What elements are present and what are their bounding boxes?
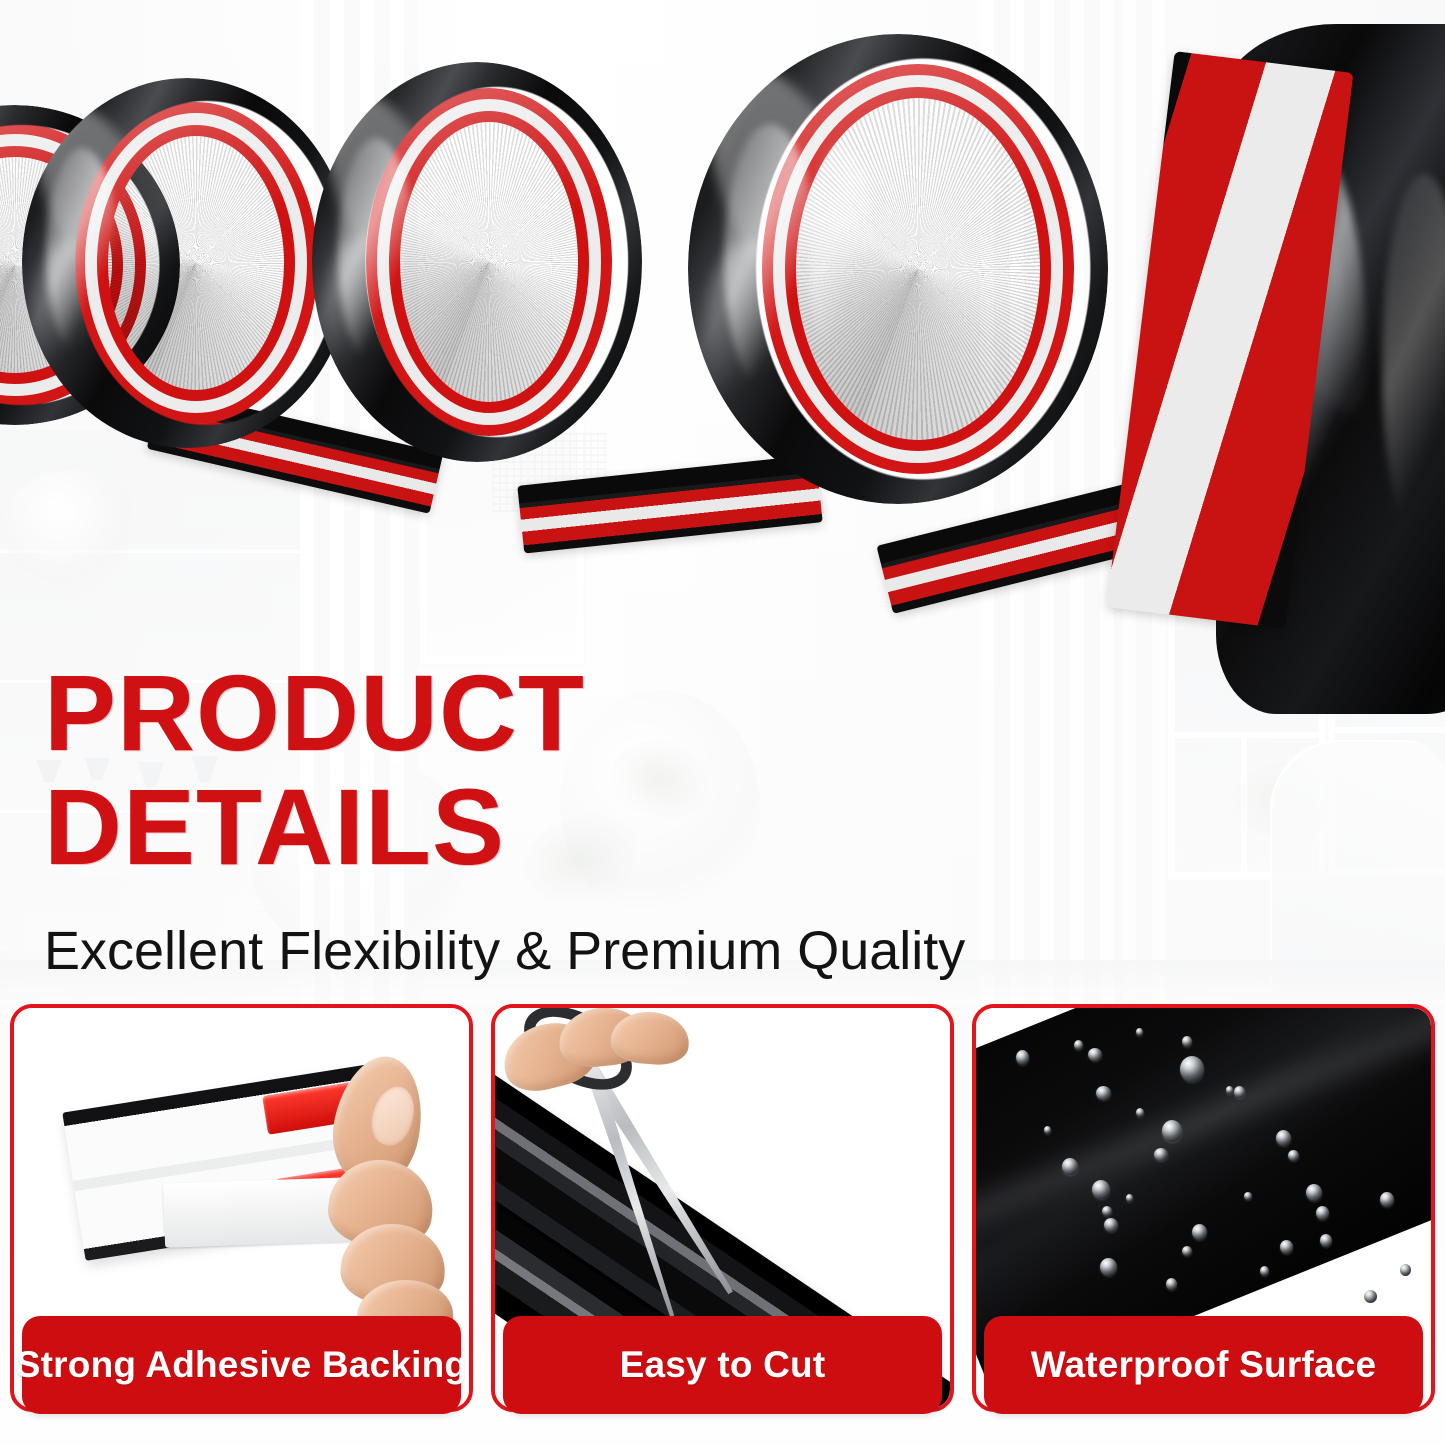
water-droplet (1166, 1278, 1177, 1290)
water-droplet (1136, 1028, 1143, 1036)
tape-black-band (312, 62, 642, 462)
water-droplet (1162, 1120, 1182, 1142)
title-block: PRODUCT DETAILS Excellent Flexibility & … (44, 660, 1144, 982)
water-droplet (1320, 1234, 1332, 1247)
water-droplet (1244, 1192, 1252, 1200)
water-droplet (1096, 1086, 1111, 1100)
feature-caption-bar-cut: Easy to Cut (503, 1316, 942, 1414)
tape-black-band (22, 78, 352, 448)
water-droplet (1016, 1050, 1029, 1065)
feature-caption-bar-waterproof: Waterproof Surface (984, 1316, 1423, 1414)
water-droplet (1400, 1264, 1411, 1276)
water-droplet (1380, 1192, 1394, 1207)
tape-coil (312, 62, 642, 462)
water-droplet (1102, 1206, 1112, 1216)
water-droplet (1288, 1150, 1299, 1161)
feature-panel-cut[interactable]: Easy to Cut (491, 1004, 954, 1412)
water-droplet (1074, 1040, 1083, 1050)
water-droplet (1182, 1246, 1192, 1256)
water-droplet (1276, 1130, 1291, 1146)
water-droplet (1088, 1048, 1102, 1061)
headline-line-2: DETAILS (44, 774, 1144, 880)
water-droplet (1192, 1224, 1207, 1240)
hand-illustration (295, 1056, 455, 1316)
water-droplet (1044, 1126, 1051, 1134)
product-detail-image: PRODUCT DETAILS Excellent Flexibility & … (0, 0, 1445, 1445)
water-droplet (1100, 1258, 1117, 1276)
water-droplet (1280, 1240, 1293, 1254)
tape-coil (22, 78, 352, 448)
feature-caption-label: Strong Adhesive Backing (16, 1344, 467, 1386)
headline-line-1: PRODUCT (44, 660, 1144, 766)
feature-panel-adhesive[interactable]: Strong Adhesive Backing (10, 1004, 473, 1412)
water-droplet (1180, 1056, 1204, 1082)
feature-panel-waterproof[interactable]: Waterproof Surface (972, 1004, 1435, 1412)
feature-panels: Strong Adhesive Backing (10, 1004, 1435, 1424)
water-droplet (1364, 1290, 1377, 1303)
feature-caption-bar-adhesive: Strong Adhesive Backing (22, 1316, 461, 1414)
subtitle: Excellent Flexibility & Premium Quality (44, 880, 1144, 982)
water-droplet (1316, 1206, 1329, 1220)
water-droplet (1062, 1158, 1078, 1175)
water-droplet (1234, 1086, 1245, 1098)
water-droplet (1182, 1036, 1192, 1047)
tape-coil (688, 34, 1108, 504)
water-droplet (1092, 1180, 1110, 1199)
feature-caption-label: Easy to Cut (620, 1344, 826, 1386)
tape-ribbon-segment (517, 455, 822, 554)
feature-caption-label: Waterproof Surface (1031, 1344, 1377, 1386)
water-droplet (1126, 1194, 1133, 1202)
water-droplet (1260, 1266, 1269, 1276)
water-droplet (1306, 1184, 1322, 1201)
tape-black-band (688, 34, 1108, 504)
water-droplet (1136, 1108, 1144, 1117)
hand-illustration (503, 1008, 693, 1128)
water-droplet (1226, 1086, 1233, 1094)
water-droplet (1154, 1148, 1168, 1161)
hero-coiled-tape (0, 0, 1445, 700)
water-droplet (1104, 1218, 1118, 1232)
